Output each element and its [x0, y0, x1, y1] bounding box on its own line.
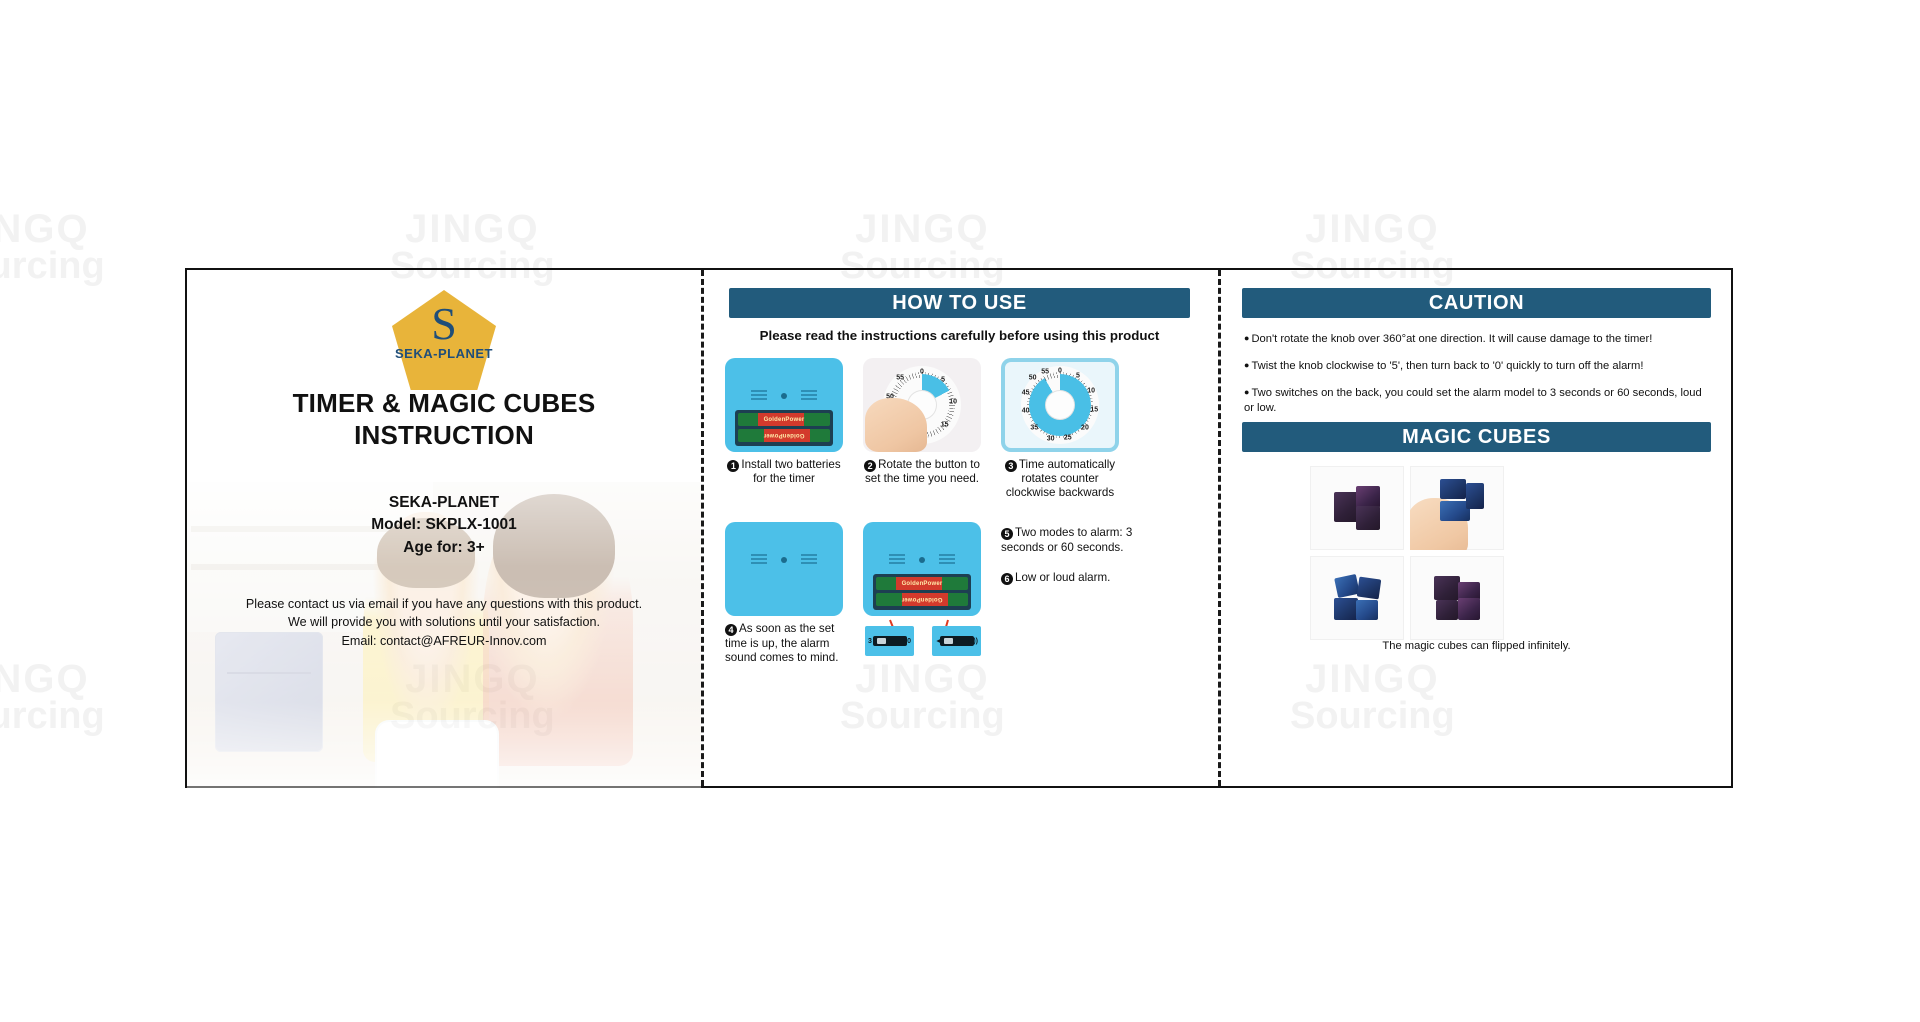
magic-cubes-banner: MAGIC CUBES [1242, 422, 1711, 452]
battery-top: GoldenPower [876, 577, 968, 590]
step-3-image-countdown: 0 5 10 15 20 25 30 35 40 45 50 55 [1001, 358, 1119, 452]
dial-label: 40 [1022, 408, 1030, 415]
dial-label: 15 [1090, 406, 1098, 413]
step-4-text: As soon as the set time is up, the alarm… [725, 622, 838, 663]
mode-label-3s: 3 [868, 638, 872, 645]
contact-block: Please contact us via email if you have … [195, 595, 693, 650]
step-1: GoldenPower GoldenPower 1Install two bat… [725, 358, 843, 500]
cube-photo-3 [1310, 556, 1404, 640]
step-3-caption: 3Time automatically rotates counter cloc… [1001, 458, 1119, 500]
fold-line-left [701, 270, 704, 786]
battery-bottom: GoldenPower [876, 593, 968, 606]
dial-label: 55 [1041, 369, 1049, 376]
timer-dial-full-icon: 0 5 10 15 20 25 30 35 40 45 50 55 [1021, 366, 1099, 444]
step-4-number: 4 [725, 624, 737, 636]
caution-bullet-text: Don't rotate the knob over 360°at one di… [1251, 333, 1652, 345]
dial-label: 20 [1081, 424, 1089, 431]
bullet-dot-icon: ● [1244, 387, 1249, 397]
watermark-line-1: JINGQ [0, 660, 105, 698]
step-2-caption: 2Rotate the button to set the time you n… [863, 458, 981, 486]
watermark-tile: JINGQ Sourcing [0, 210, 105, 284]
step-2-number: 2 [864, 460, 876, 472]
step-6-number: 6 [1001, 573, 1013, 585]
step-1-text: Install two batteries for the timer [741, 458, 840, 485]
step-5-number: 5 [1001, 528, 1013, 540]
dial-label: 0 [920, 369, 924, 376]
watermark-line-1: JINGQ [0, 210, 105, 248]
magic-cube-icon [1440, 479, 1486, 523]
cube-photo-2 [1410, 466, 1504, 550]
watermark-line-2: Sourcing [0, 248, 105, 284]
step-5-text: Two modes to alarm: 3 seconds or 60 seco… [1001, 526, 1132, 553]
battery-top: GoldenPower [738, 413, 830, 426]
volume-high-icon: ◄)) [966, 638, 978, 645]
step-6-text: Low or loud alarm. [1015, 571, 1110, 584]
step-4: 4As soon as the set time is up, the alar… [725, 522, 843, 664]
product-model: Model: SKPLX-1001 [187, 514, 701, 536]
step-1-number: 1 [727, 460, 739, 472]
step-3-number: 3 [1005, 460, 1017, 472]
watermark-tile: JINGQ Sourcing [0, 660, 105, 734]
step-switches-image-back-panel: GoldenPower GoldenPower [863, 522, 981, 616]
caution-panel: CAUTION ●Don't rotate the knob over 360°… [1218, 270, 1735, 786]
how-to-use-banner: HOW TO USE [729, 288, 1190, 318]
contact-line-2: We will provide you with solutions until… [195, 613, 693, 631]
logo-monogram: S [431, 304, 457, 344]
instruction-sheet: S SEKA-PLANET TIMER & MAGIC CUBES INSTRU… [185, 268, 1733, 788]
watermark-line-1: JINGQ [390, 210, 555, 248]
cube-photo-1 [1310, 466, 1404, 550]
battery-tray: GoldenPower GoldenPower [735, 410, 833, 446]
caution-bullet-text: Twist the knob clockwise to '5', then tu… [1251, 360, 1643, 372]
fold-line-right [1218, 270, 1221, 786]
step-1-caption: 1Install two batteries for the timer [725, 458, 843, 486]
caution-bullet: ●Don't rotate the knob over 360°at one d… [1244, 332, 1713, 347]
contact-line-1: Please contact us via email if you have … [195, 595, 693, 613]
magic-cube-icon [1434, 576, 1480, 620]
dial-label: 55 [896, 375, 904, 382]
magic-cubes-caption: The magic cubes can flipped infinitely. [1218, 640, 1735, 652]
bullet-dot-icon: ● [1244, 360, 1249, 370]
bullet-dot-icon: ● [1244, 333, 1249, 343]
caution-bullet-list: ●Don't rotate the knob over 360°at one d… [1244, 332, 1713, 428]
cover-title-line-2: INSTRUCTION [187, 420, 701, 452]
cover-title: TIMER & MAGIC CUBES INSTRUCTION [187, 388, 701, 451]
step-1-image-battery-install: GoldenPower GoldenPower [725, 358, 843, 452]
watermark-line-1: JINGQ [1290, 210, 1455, 248]
dial-label: 10 [1087, 387, 1095, 394]
steps-row-bottom: 4As soon as the set time is up, the alar… [725, 522, 1200, 664]
mode-label-60s: 60 [903, 638, 911, 645]
step-2: 0 5 10 15 20 50 55 2Rotate the button to… [863, 358, 981, 500]
dial-label: 45 [1022, 390, 1030, 397]
dial-label: 25 [1064, 434, 1072, 441]
cover-title-line-1: TIMER & MAGIC CUBES [187, 388, 701, 420]
dial-label: 5 [1076, 373, 1080, 380]
step-4-image-alarm-ringing [725, 522, 843, 616]
magic-cubes-gallery [1310, 466, 1504, 640]
watermark-line-2: Sourcing [0, 698, 105, 734]
how-to-use-panel: HOW TO USE Please read the instructions … [701, 270, 1218, 786]
pentagon-logo-icon: S SEKA-PLANET [392, 290, 496, 390]
dial-label: 0 [1058, 367, 1062, 374]
product-info-block: SEKA-PLANET Model: SKPLX-1001 Age for: 3… [187, 492, 701, 559]
battery-tray: GoldenPower GoldenPower [873, 574, 971, 610]
step-6-caption: 6Low or loud alarm. [1001, 571, 1141, 585]
contact-email: Email: contact@AFREUR-Innov.com [195, 632, 693, 650]
magic-cube-icon [1334, 576, 1380, 620]
hand-finger-icon [865, 398, 927, 452]
caution-banner: CAUTION [1242, 288, 1711, 318]
dial-label: 30 [1047, 435, 1055, 442]
step-5-caption: 5Two modes to alarm: 3 seconds or 60 sec… [1001, 526, 1141, 555]
cube-photo-4 [1410, 556, 1504, 640]
brand-logo: S SEKA-PLANET [187, 290, 701, 390]
caution-bullet: ●Two switches on the back, you could set… [1244, 386, 1713, 416]
magic-cube-icon [1334, 486, 1380, 530]
dial-label: 10 [949, 398, 957, 405]
dial-label: 50 [1029, 375, 1037, 382]
logo-wordmark: SEKA-PLANET [395, 346, 493, 361]
step-switches: GoldenPower GoldenPower 3 60 [863, 522, 981, 664]
switch-detail-row: 3 60 ◄ ◄)) [863, 626, 981, 656]
steps-side-notes: 5Two modes to alarm: 3 seconds or 60 sec… [1001, 522, 1141, 664]
cover-panel: S SEKA-PLANET TIMER & MAGIC CUBES INSTRU… [187, 270, 701, 786]
product-age: Age for: 3+ [187, 537, 701, 559]
alarm-mode-switch[interactable]: 3 60 [865, 626, 914, 656]
step-2-text: Rotate the button to set the time you ne… [865, 458, 980, 485]
step-4-caption: 4As soon as the set time is up, the alar… [725, 622, 843, 664]
caution-bullet: ●Twist the knob clockwise to '5', then t… [1244, 359, 1713, 374]
step-3: 0 5 10 15 20 25 30 35 40 45 50 55 [1001, 358, 1119, 500]
how-to-use-subtitle: Please read the instructions carefully b… [715, 328, 1204, 343]
switch-slider-icon[interactable] [873, 636, 907, 646]
volume-switch[interactable]: ◄ ◄)) [932, 626, 981, 656]
caution-bullet-text: Two switches on the back, you could set … [1244, 387, 1702, 414]
steps-row-top: GoldenPower GoldenPower 1Install two bat… [725, 358, 1200, 500]
product-brand: SEKA-PLANET [187, 492, 701, 514]
dial-label: 35 [1030, 425, 1038, 432]
step-2-image-rotate-knob: 0 5 10 15 20 50 55 [863, 358, 981, 452]
step-3-text: Time automatically rotates counter clock… [1006, 458, 1115, 499]
how-to-use-steps-grid: GoldenPower GoldenPower 1Install two bat… [725, 358, 1200, 665]
battery-bottom: GoldenPower [738, 429, 830, 442]
watermark-line-1: JINGQ [840, 210, 1005, 248]
dial-label: 5 [941, 377, 945, 384]
dial-label: 15 [941, 422, 949, 429]
